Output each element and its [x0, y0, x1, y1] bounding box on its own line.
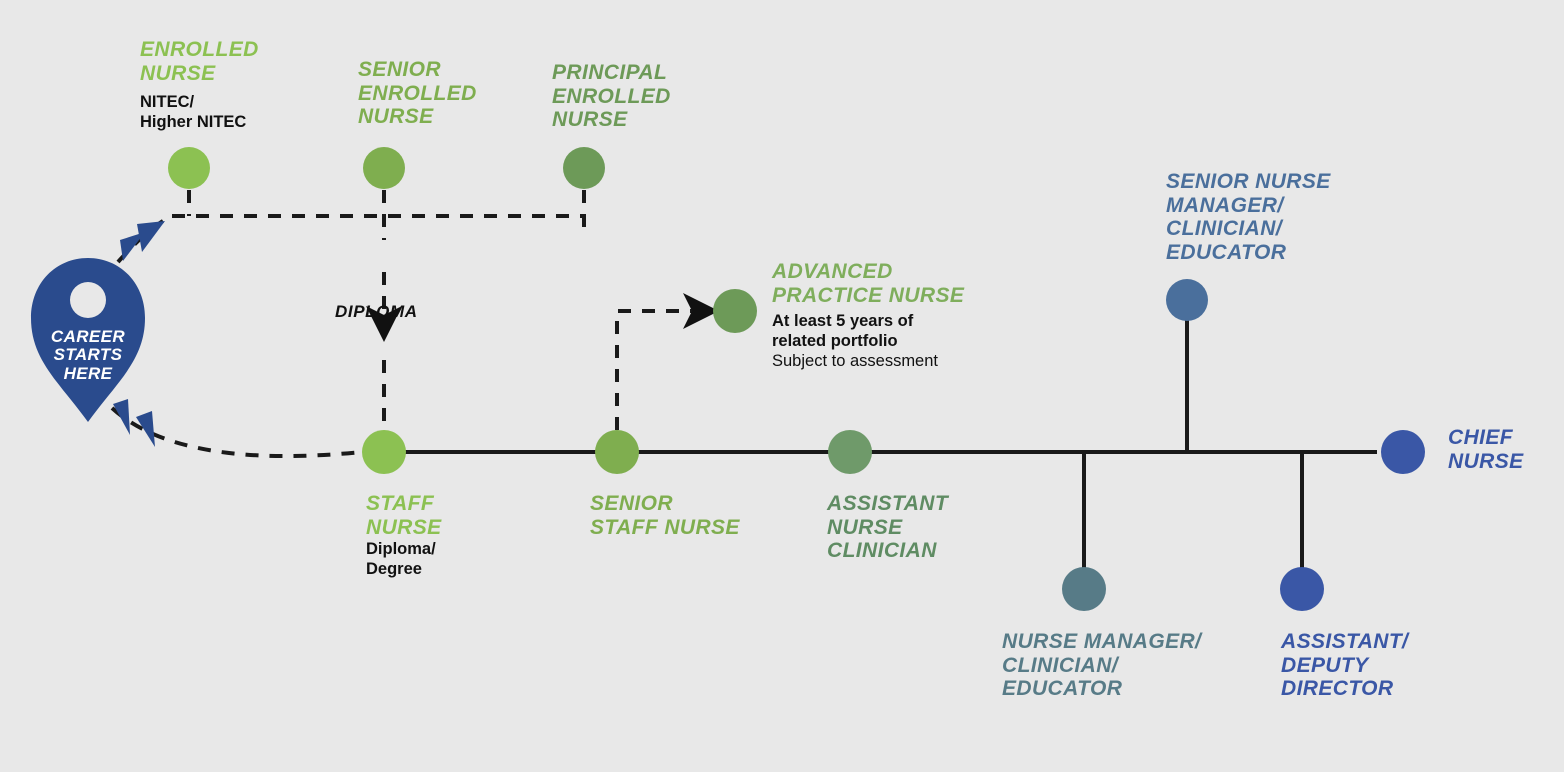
- node-senior-enrolled-nurse[interactable]: [363, 147, 405, 189]
- label-enrolled-nurse: ENROLLED NURSE: [140, 38, 259, 85]
- label-advanced-practice-nurse: ADVANCED PRACTICE NURSE: [772, 260, 964, 307]
- node-principal-enrolled-nurse[interactable]: [563, 147, 605, 189]
- node-senior-staff-nurse[interactable]: [595, 430, 639, 474]
- chevron-up-2-icon: [137, 221, 165, 252]
- subtext-advanced-practice-nurse-note: Subject to assessment: [772, 352, 938, 372]
- subtext-staff-nurse: Diploma/ Degree: [366, 540, 436, 580]
- label-nurse-manager: NURSE MANAGER/ CLINICIAN/ EDUCATOR: [1002, 630, 1201, 701]
- node-staff-nurse[interactable]: [362, 430, 406, 474]
- node-nurse-manager[interactable]: [1062, 567, 1106, 611]
- node-advanced-practice-nurse[interactable]: [713, 289, 757, 333]
- edge-label-diploma: DIPLOMA: [335, 302, 418, 322]
- subtext-enrolled-nurse: NITEC/ Higher NITEC: [140, 93, 246, 133]
- label-principal-enrolled-nurse: PRINCIPAL ENROLLED NURSE: [552, 61, 671, 132]
- node-chief-nurse[interactable]: [1381, 430, 1425, 474]
- pin-shape-icon: [29, 256, 147, 424]
- label-assistant-deputy-director: ASSISTANT/ DEPUTY DIRECTOR: [1281, 630, 1408, 701]
- node-senior-nurse-manager[interactable]: [1166, 279, 1208, 321]
- career-pathway-diagram: CAREER STARTS HERE ENROLLED NURSE NITEC/…: [0, 0, 1564, 772]
- label-senior-enrolled-nurse: SENIOR ENROLLED NURSE: [358, 58, 477, 129]
- dashed-apn-path: [617, 311, 713, 430]
- label-assistant-nurse-clinician: ASSISTANT NURSE CLINICIAN: [827, 492, 948, 563]
- subtext-advanced-practice-nurse-requirement: At least 5 years of related portfolio: [772, 312, 913, 352]
- label-senior-staff-nurse: SENIOR STAFF NURSE: [590, 492, 740, 539]
- node-assistant-deputy-director[interactable]: [1280, 567, 1324, 611]
- node-enrolled-nurse[interactable]: [168, 147, 210, 189]
- label-senior-nurse-manager: SENIOR NURSE MANAGER/ CLINICIAN/ EDUCATO…: [1166, 170, 1331, 264]
- career-start-pin[interactable]: CAREER STARTS HERE: [29, 256, 147, 424]
- node-assistant-nurse-clinician[interactable]: [828, 430, 872, 474]
- label-staff-nurse: STAFF NURSE: [366, 492, 442, 539]
- label-chief-nurse: CHIEF NURSE: [1448, 426, 1524, 473]
